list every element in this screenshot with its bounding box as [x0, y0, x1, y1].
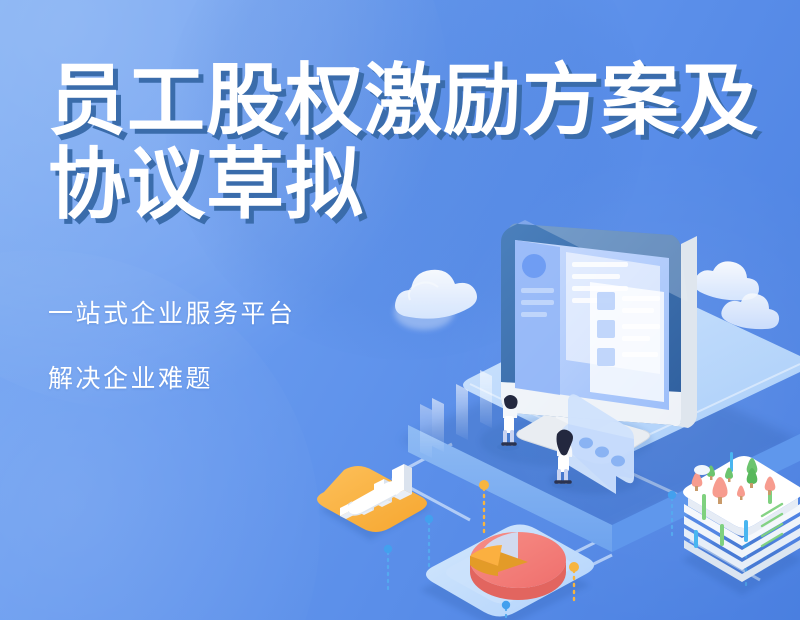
layered-server-cube [682, 452, 800, 595]
subtitle-line-1: 一站式企业服务平台 [48, 299, 788, 329]
orange-bar-chart-card [317, 464, 430, 540]
page-title-line-1: 员工股权激励方案及 [48, 58, 788, 142]
copy-block: 员工股权激励方案及 协议草拟 一站式企业服务平台 解决企业难题 [48, 58, 788, 394]
bush-white [694, 465, 710, 475]
page-title-line-2: 协议草拟 [48, 142, 788, 226]
marker-dot-orange [569, 562, 579, 572]
subtitle-line-2: 解决企业难题 [48, 364, 788, 394]
banner-canvas: 员工股权激励方案及 协议草拟 一站式企业服务平台 解决企业难题 [0, 0, 800, 620]
marker-dot-orange [479, 480, 489, 490]
